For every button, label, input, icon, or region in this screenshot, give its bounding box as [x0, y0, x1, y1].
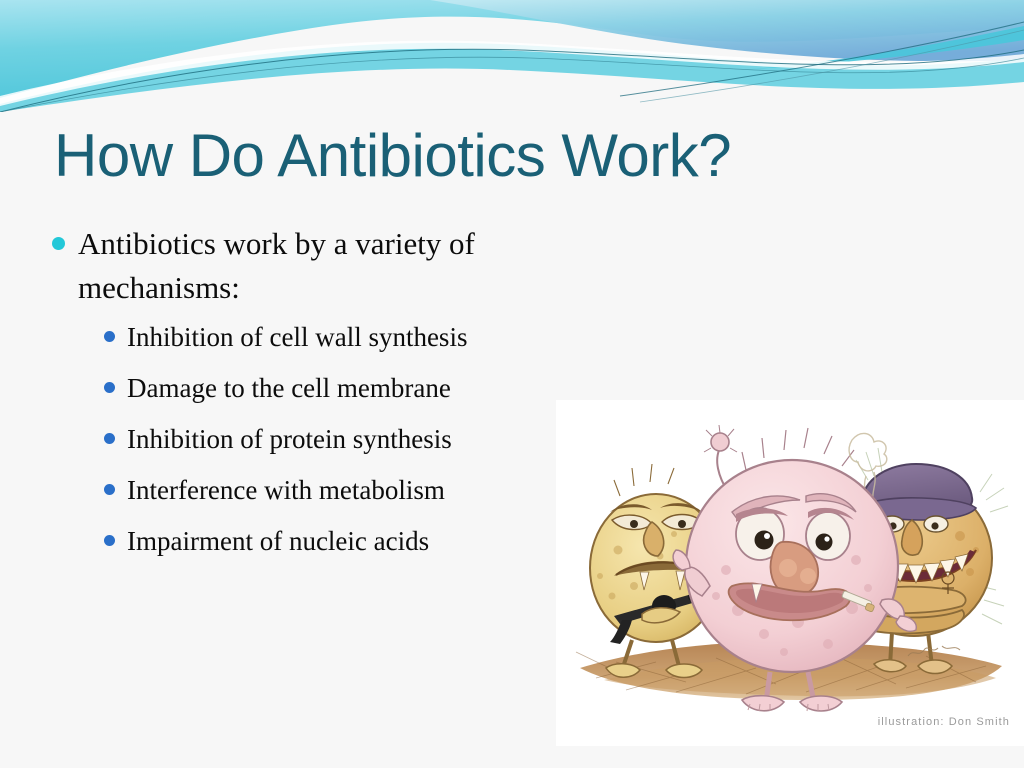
three-cartoon-germs-icon [556, 400, 1024, 746]
list-item: Inhibition of cell wall synthesis [52, 313, 612, 361]
wave-line-4 [640, 30, 1024, 102]
header-wave-decoration [0, 0, 1024, 112]
wave-line-1 [0, 49, 1024, 112]
bullet-dot-icon [52, 237, 65, 250]
wave-highlight [0, 41, 1024, 106]
list-item: Impairment of nucleic acids [52, 517, 612, 565]
slide-canvas: How Do Antibiotics Work? Antibiotics wor… [0, 0, 1024, 768]
wave-shape-primary [0, 0, 1024, 98]
wave-band-right [740, 26, 1024, 70]
list-item-label: Interference with metabolism [127, 466, 445, 514]
list-item-label: Inhibition of cell wall synthesis [127, 313, 467, 361]
bullet-dot-icon [104, 484, 115, 495]
list-item-label: Inhibition of protein synthesis [127, 415, 452, 463]
page-title: How Do Antibiotics Work? [54, 126, 954, 186]
bullet-dot-icon [104, 433, 115, 444]
list-item: Damage to the cell membrane [52, 364, 612, 412]
bullet-dot-icon [104, 382, 115, 393]
wave-line-3 [620, 22, 1024, 96]
illustration-credit: illustration: Don Smith [878, 716, 1010, 728]
list-item-label: Antibiotics work by a variety of mechani… [78, 222, 612, 310]
wave-shape-secondary [430, 0, 1024, 61]
list-item: Inhibition of protein synthesis [52, 415, 612, 463]
bullet-dot-icon [104, 331, 115, 342]
wave-shape-lower [0, 43, 1024, 112]
bullet-dot-icon [104, 535, 115, 546]
list-item-label: Impairment of nucleic acids [127, 517, 429, 565]
illustration-panel: illustration: Don Smith [556, 400, 1024, 746]
list-item: Interference with metabolism [52, 466, 612, 514]
list-item-label: Damage to the cell membrane [127, 364, 451, 412]
wave-banner-icon [0, 0, 1024, 112]
bullet-list: Antibiotics work by a variety of mechani… [52, 222, 612, 568]
wave-line-2 [0, 57, 1024, 112]
list-item: Antibiotics work by a variety of mechani… [52, 222, 612, 310]
